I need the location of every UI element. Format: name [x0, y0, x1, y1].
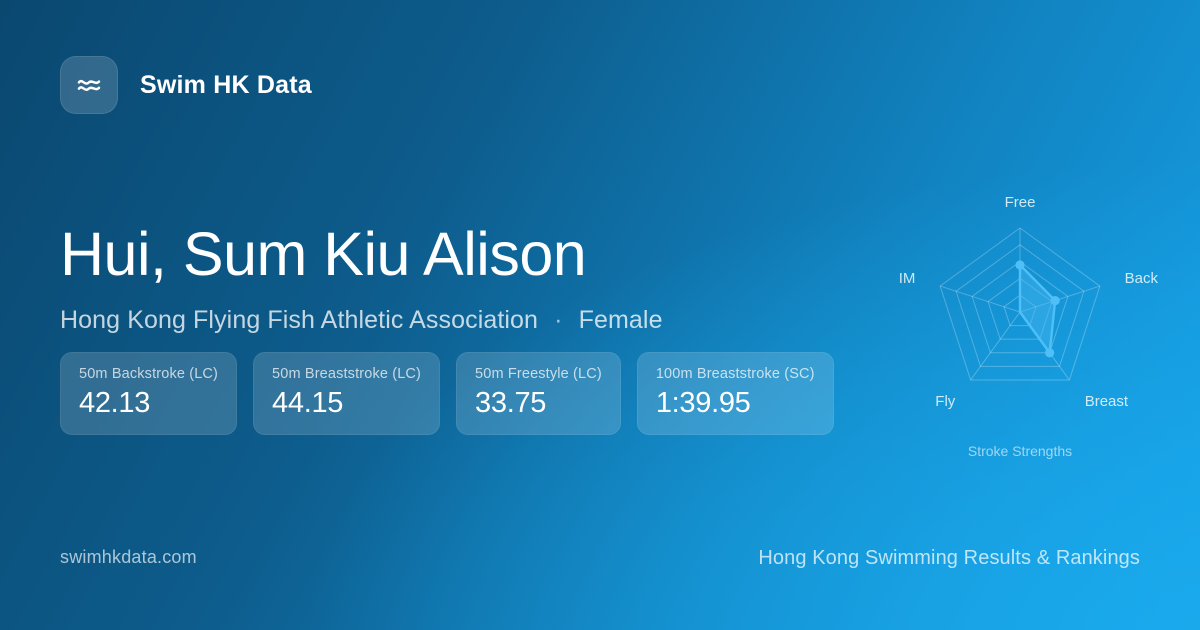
- stat-card-value: 44.15: [272, 387, 421, 420]
- meta-separator: ·: [545, 306, 571, 334]
- radar-axis-label-im: IM: [899, 270, 916, 287]
- app-logo-badge: [60, 56, 118, 114]
- stat-card-value: 33.75: [475, 387, 602, 420]
- stat-card-list: 50m Backstroke (LC) 42.13 50m Breaststro…: [60, 352, 834, 435]
- radar-data-point: [1045, 348, 1054, 357]
- radar-axis-label-breast: Breast: [1085, 393, 1129, 410]
- stat-card-value: 1:39.95: [656, 387, 815, 420]
- radar-axis-label-free: Free: [1005, 194, 1036, 211]
- athlete-share-card: Swim HK Data Hui, Sum Kiu Alison Hong Ko…: [0, 0, 1200, 630]
- athlete-gender: Female: [579, 306, 663, 334]
- wave-approx-icon: [74, 70, 104, 100]
- stat-card-label: 50m Breaststroke (LC): [272, 366, 421, 382]
- athlete-meta: Hong Kong Flying Fish Athletic Associati…: [60, 306, 860, 335]
- stat-card: 50m Freestyle (LC) 33.75: [456, 352, 621, 435]
- stat-card: 50m Backstroke (LC) 42.13: [60, 352, 237, 435]
- athlete-name: Hui, Sum Kiu Alison: [60, 222, 860, 288]
- radar-axis-label-back: Back: [1125, 270, 1159, 287]
- radar-data-point: [1015, 260, 1024, 269]
- stat-card-label: 50m Freestyle (LC): [475, 366, 602, 382]
- stroke-strengths-radar-chart: FreeBackBreastFlyIM Stroke Strengths: [868, 172, 1172, 472]
- brand-header: Swim HK Data: [60, 56, 312, 114]
- radar-caption: Stroke Strengths: [968, 443, 1072, 459]
- radar-axis-label-fly: Fly: [935, 393, 955, 410]
- stat-card-label: 100m Breaststroke (SC): [656, 366, 815, 382]
- radar-axis-line: [940, 286, 1020, 312]
- stat-card: 50m Breaststroke (LC) 44.15: [253, 352, 440, 435]
- brand-name: Swim HK Data: [140, 71, 312, 100]
- stat-card-value: 42.13: [79, 387, 218, 420]
- stat-card-label: 50m Backstroke (LC): [79, 366, 218, 382]
- athlete-identity: Hui, Sum Kiu Alison Hong Kong Flying Fis…: [60, 222, 860, 335]
- footer-tagline: Hong Kong Swimming Results & Rankings: [758, 547, 1140, 570]
- athlete-club: Hong Kong Flying Fish Athletic Associati…: [60, 306, 538, 334]
- footer-site-url[interactable]: swimhkdata.com: [60, 547, 197, 568]
- stat-card: 100m Breaststroke (SC) 1:39.95: [637, 352, 834, 435]
- radar-data-point: [1051, 296, 1060, 305]
- radar-axis-line: [971, 312, 1020, 380]
